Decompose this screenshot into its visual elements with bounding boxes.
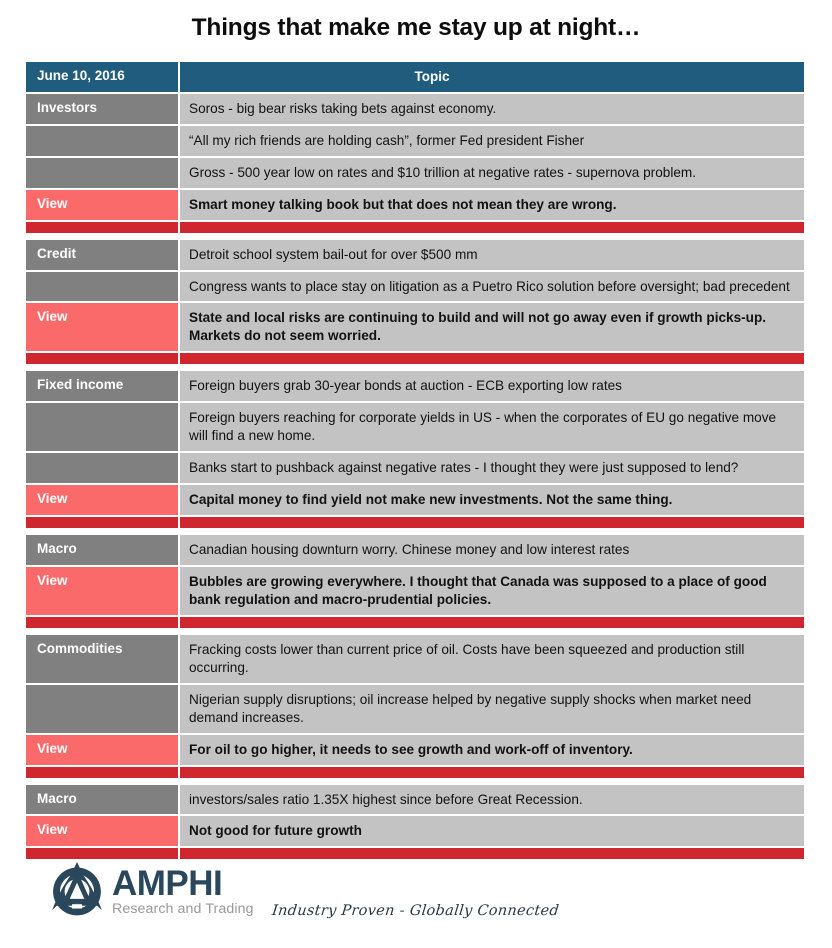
topic-cell: Banks start to pushback against negative… [180, 453, 804, 483]
separator-left [26, 222, 178, 233]
amphi-triquetra-icon [46, 858, 108, 920]
topic-cell: Foreign buyers reaching for corporate yi… [180, 403, 804, 451]
separator-right [180, 517, 804, 528]
amphi-logo: AMPHI Research and Trading [46, 858, 254, 920]
topic-cell: Detroit school system bail-out for over … [180, 240, 804, 270]
category-label-empty [26, 158, 178, 188]
section-separator [26, 517, 804, 528]
table-row: Fixed incomeForeign buyers grab 30-year … [26, 371, 804, 401]
logo-text-block: AMPHI Research and Trading [112, 858, 254, 917]
table-header-row: June 10, 2016 Topic [26, 62, 804, 92]
view-row: ViewCapital money to find yield not make… [26, 485, 804, 515]
separator-right [180, 222, 804, 233]
topic-cell: Nigerian supply disruptions; oil increas… [180, 685, 804, 733]
category-label: Credit [26, 240, 178, 270]
separator-left [26, 617, 178, 628]
separator-left [26, 353, 178, 364]
view-text-cell: Smart money talking book but that does n… [180, 190, 804, 220]
slide-page: Things that make me stay up at night… Ju… [0, 0, 832, 948]
table-row: MacroCanadian housing downturn worry. Ch… [26, 535, 804, 565]
view-row: ViewNot good for future growth [26, 816, 804, 846]
table-row: InvestorsSoros - big bear risks taking b… [26, 94, 804, 124]
table-row: CommoditiesFracking costs lower than cur… [26, 635, 804, 683]
view-text-cell: Capital money to find yield not make new… [180, 485, 804, 515]
separator-right [180, 353, 804, 364]
section-separator [26, 222, 804, 233]
logo-name: AMPHI [112, 867, 254, 900]
view-text-cell: For oil to go higher, it needs to see gr… [180, 735, 804, 765]
separator-left [26, 517, 178, 528]
view-row: ViewState and local risks are continuing… [26, 303, 804, 351]
table-row: Banks start to pushback against negative… [26, 453, 804, 483]
table-row: Macroinvestors/sales ratio 1.35X highest… [26, 785, 804, 815]
tagline: Industry Proven - Globally Connected [271, 903, 560, 919]
view-row: ViewBubbles are growing everywhere. I th… [26, 567, 804, 615]
category-label: Macro [26, 785, 178, 815]
header-topic-cell: Topic [180, 62, 804, 92]
table-row: Gross - 500 year low on rates and $10 tr… [26, 158, 804, 188]
topic-cell: Foreign buyers grab 30-year bonds at auc… [180, 371, 804, 401]
topic-cell: Congress wants to place stay on litigati… [180, 272, 804, 302]
table-row: “All my rich friends are holding cash”, … [26, 126, 804, 156]
separator-left [26, 767, 178, 778]
separator-right [180, 617, 804, 628]
topics-table: June 10, 2016 Topic InvestorsSoros - big… [26, 62, 804, 859]
view-text-cell: State and local risks are continuing to … [180, 303, 804, 351]
category-label: Macro [26, 535, 178, 565]
logo-subtitle: Research and Trading [112, 901, 254, 917]
table-row: Congress wants to place stay on litigati… [26, 272, 804, 302]
header-date-cell: June 10, 2016 [26, 62, 178, 92]
view-label: View [26, 816, 178, 846]
page-title: Things that make me stay up at night… [0, 14, 832, 42]
topic-cell: Canadian housing downturn worry. Chinese… [180, 535, 804, 565]
section-separator [26, 617, 804, 628]
view-label: View [26, 735, 178, 765]
topic-cell: investors/sales ratio 1.35X highest sinc… [180, 785, 804, 815]
table-row: CreditDetroit school system bail-out for… [26, 240, 804, 270]
view-text-cell: Not good for future growth [180, 816, 804, 846]
category-label-empty [26, 685, 178, 733]
table-row: Nigerian supply disruptions; oil increas… [26, 685, 804, 733]
category-label-empty [26, 403, 178, 451]
category-label: Commodities [26, 635, 178, 683]
table-row: Foreign buyers reaching for corporate yi… [26, 403, 804, 451]
view-row: ViewSmart money talking book but that do… [26, 190, 804, 220]
topic-cell: “All my rich friends are holding cash”, … [180, 126, 804, 156]
view-label: View [26, 567, 178, 615]
category-label-empty [26, 453, 178, 483]
topic-cell: Gross - 500 year low on rates and $10 tr… [180, 158, 804, 188]
topic-cell: Soros - big bear risks taking bets again… [180, 94, 804, 124]
view-text-cell: Bubbles are growing everywhere. I though… [180, 567, 804, 615]
section-separator [26, 767, 804, 778]
view-label: View [26, 303, 178, 351]
category-label: Fixed income [26, 371, 178, 401]
view-label: View [26, 190, 178, 220]
category-label-empty [26, 126, 178, 156]
section-separator [26, 353, 804, 364]
topic-cell: Fracking costs lower than current price … [180, 635, 804, 683]
view-label: View [26, 485, 178, 515]
footer: AMPHI Research and Trading Industry Prov… [0, 850, 832, 948]
category-label: Investors [26, 94, 178, 124]
separator-right [180, 767, 804, 778]
view-row: ViewFor oil to go higher, it needs to se… [26, 735, 804, 765]
category-label-empty [26, 272, 178, 302]
